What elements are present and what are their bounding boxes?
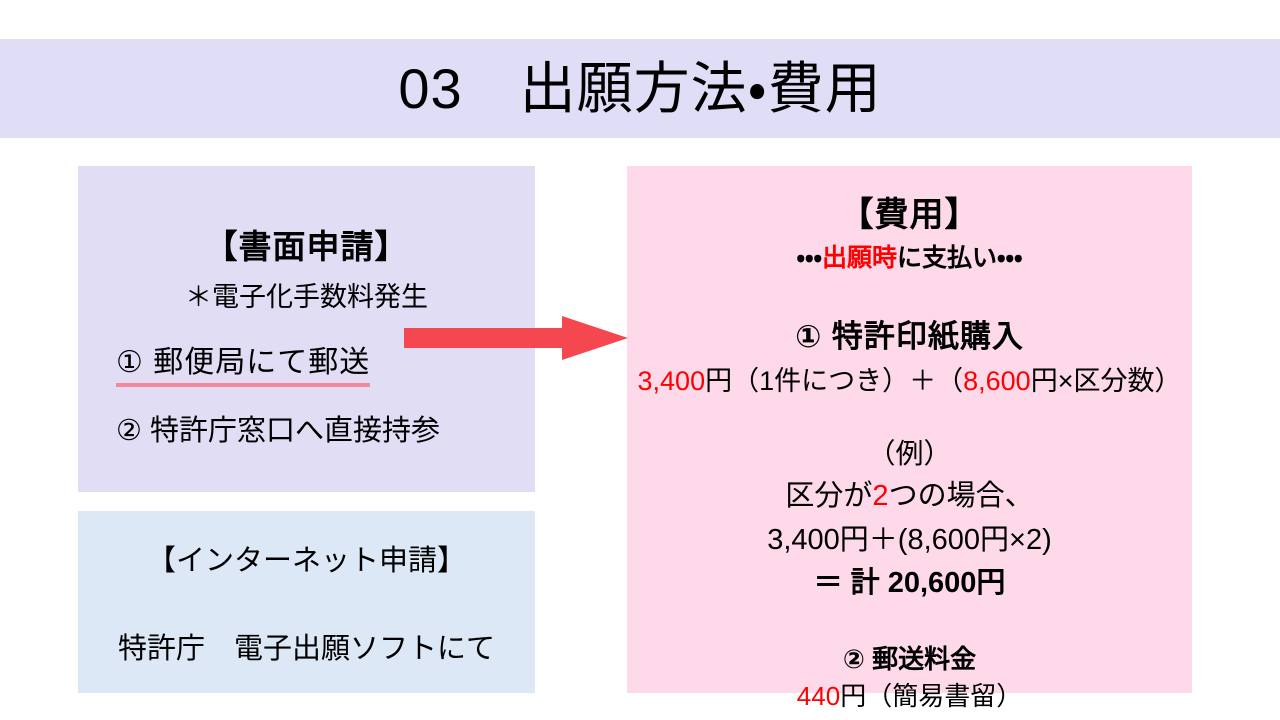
fee-item2-heading: ② 郵送料金 (627, 643, 1192, 676)
paper-application-item2-row: ② 特許庁窓口へ直接持参 (78, 407, 535, 449)
fee-example-label: （例） (627, 436, 1192, 471)
fee-example-case-count: 2 (872, 480, 888, 512)
slide-title-banner: 03 出願方法・費用 (0, 39, 1280, 138)
fee-postage-unit: 円（簡易書留） (840, 681, 1022, 711)
fee-per-class-amount: 8,600 (963, 366, 1031, 396)
paper-application-item1: ① 郵便局にて郵送 (116, 337, 370, 387)
fee-payment-timing: ・・・出願時に支払い・・・ (627, 243, 1192, 274)
fee-item1-heading: ① 特許印紙購入 (627, 318, 1192, 357)
fee-example-calculation: 3,400円＋(8,600円×2) (627, 522, 1192, 558)
internet-application-body: 特許庁 電子出願ソフトにて (78, 631, 535, 667)
flow-arrow-right-icon (404, 316, 628, 360)
paper-application-item2: ② 特許庁窓口へ直接持参 (116, 415, 440, 447)
fee-item1-formula: 3,400円（1件につき）＋（8,600円×区分数） (627, 365, 1192, 399)
fee-payment-timing-prefix: ・・・ (796, 244, 822, 272)
fee-panel: 【費用】 ・・・出願時に支払い・・・ ① 特許印紙購入 3,400円（1件につき… (627, 166, 1192, 693)
internet-application-heading: 【インターネット申請】 (78, 543, 535, 579)
fee-example-total: ＝ 計 20,600円 (627, 565, 1192, 601)
paper-application-heading: 【書面申請】 (78, 226, 535, 267)
fee-example-case: 区分が2つの場合、 (627, 478, 1192, 514)
fee-example-case-prefix: 区分が (785, 480, 872, 512)
fee-example-case-suffix: つの場合、 (889, 480, 1034, 512)
fee-heading: 【費用】 (627, 194, 1192, 237)
fee-base-amount: 3,400 (638, 366, 706, 396)
fee-per-class-unit: 円×区分数） (1031, 366, 1182, 396)
arrow-shape (404, 316, 628, 360)
fee-base-unit: 円（1件につき）＋（ (705, 366, 963, 396)
internet-application-panel: 【インターネット申請】 特許庁 電子出願ソフトにて (78, 511, 535, 693)
fee-payment-timing-highlight: 出願時 (822, 244, 897, 272)
page-title: 03 出願方法・費用 (398, 61, 881, 117)
paper-application-note: ＊電子化手数料発生 (78, 281, 535, 315)
fee-payment-timing-suffix: に支払い・・・ (897, 244, 1023, 272)
fee-postage-amount: 440 (797, 681, 840, 711)
fee-item2-amount-row: 440円（簡易書留） (627, 680, 1192, 713)
